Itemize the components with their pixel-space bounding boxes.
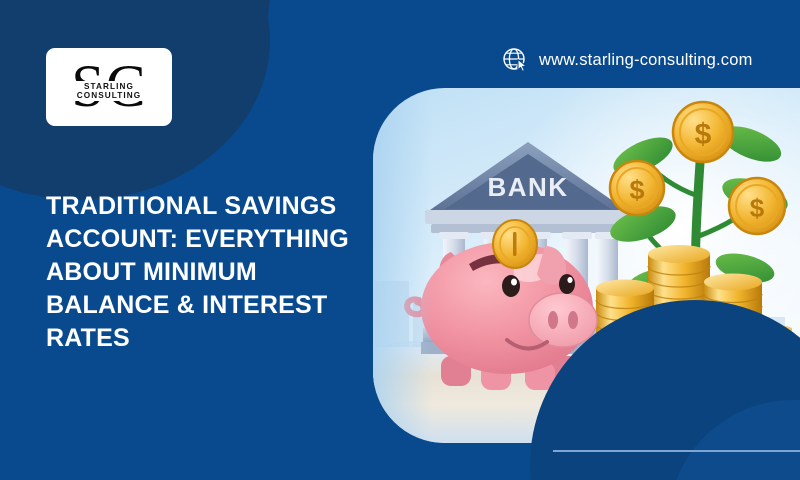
- svg-text:$: $: [750, 193, 765, 223]
- svg-text:BANK: BANK: [487, 172, 568, 202]
- website-url[interactable]: www.starling-consulting.com: [502, 47, 753, 73]
- bottom-accent-rule: [553, 450, 800, 452]
- marketing-banner: BANK: [0, 0, 800, 480]
- card-left-fade: [373, 88, 433, 443]
- globe-cursor-icon: [502, 47, 528, 73]
- svg-text:$: $: [695, 118, 712, 151]
- logo-inner: SC STARLING CONSULTING: [53, 55, 165, 119]
- company-logo[interactable]: SC STARLING CONSULTING: [46, 48, 172, 126]
- page-title: Traditional Savings Account: Everything …: [46, 190, 376, 355]
- website-url-text: www.starling-consulting.com: [539, 51, 753, 70]
- logo-company-name: STARLING CONSULTING: [53, 81, 165, 101]
- svg-text:$: $: [629, 175, 644, 205]
